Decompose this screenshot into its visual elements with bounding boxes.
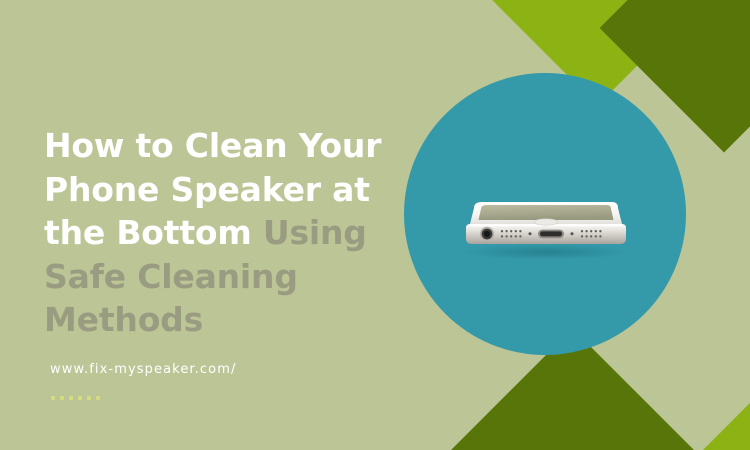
dot (69, 396, 73, 400)
dot (87, 396, 91, 400)
dot (60, 396, 64, 400)
poster-canvas: How to Clean Your Phone Speaker at the B… (0, 0, 750, 450)
page-title: How to Clean Your Phone Speaker at the B… (44, 124, 404, 342)
dot (96, 396, 100, 400)
site-url-text: www.fix-myspeaker.com/ (50, 362, 236, 377)
dot (51, 396, 55, 400)
smartphone-bottom-photo (446, 176, 646, 258)
lime-diamond-bottom-right-shape (673, 374, 750, 450)
decorative-dot-row (51, 396, 100, 400)
dot (78, 396, 82, 400)
